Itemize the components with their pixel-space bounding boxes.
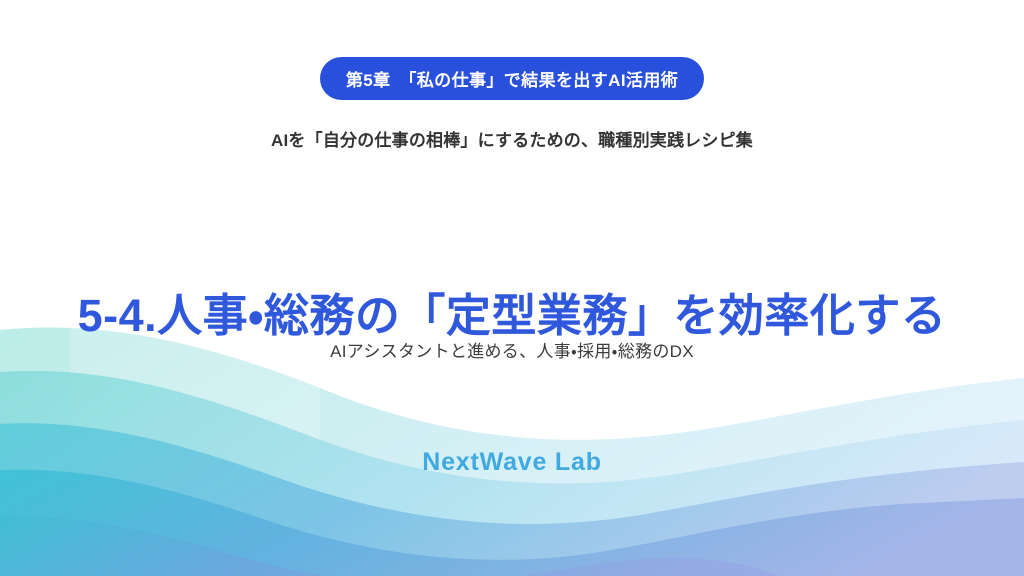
slide-root: 第5章 「私の仕事」で結果を出すAI活用術 AIを「自分の仕事の相棒」にするため… [0, 0, 1024, 576]
chapter-badge: 第5章 「私の仕事」で結果を出すAI活用術 [320, 57, 704, 100]
brand-name: NextWave Lab [0, 448, 1024, 477]
chapter-badge-row: 第5章 「私の仕事」で結果を出すAI活用術 [0, 57, 1024, 100]
page-title: 5-4.人事・総務の「定型業務」を効率化する [0, 279, 1024, 344]
slide-description: AIアシスタントと進める、人事・採用・総務のDX [0, 337, 1024, 362]
deck-subtitle: AIを「自分の仕事の相棒」にするための、職種別実践レシピ集 [0, 126, 1024, 151]
